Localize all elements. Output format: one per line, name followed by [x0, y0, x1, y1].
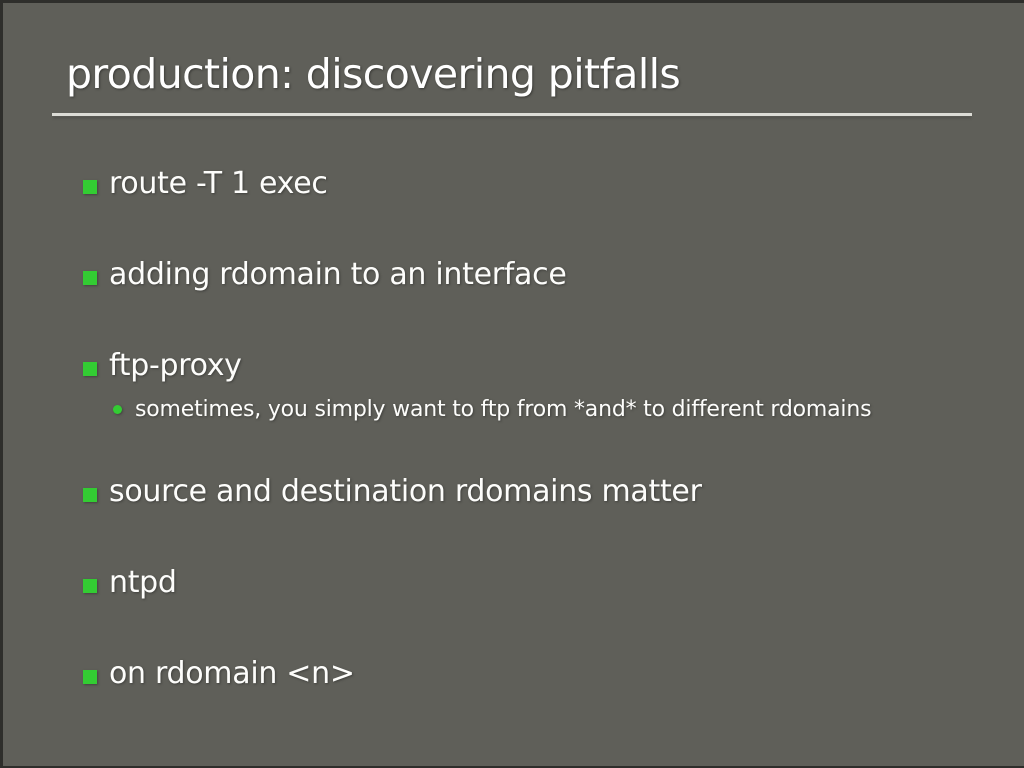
green-square-bullet-icon — [83, 579, 97, 593]
list-item: ntpd — [81, 560, 981, 605]
sub-list-item: sometimes, you simply want to ftp from *… — [109, 390, 875, 429]
green-square-bullet-icon — [83, 488, 97, 502]
green-square-bullet-icon — [83, 271, 97, 285]
green-square-bullet-icon — [83, 362, 97, 376]
sub-bullet-list: sometimes, you simply want to ftp from *… — [109, 390, 981, 429]
presentation-slide: production: discovering pitfalls route -… — [0, 0, 1024, 768]
slide-body-bullet-list: route -T 1 exec adding rdomain to an int… — [81, 161, 981, 696]
slide-title-block: production: discovering pitfalls — [52, 47, 972, 105]
sub-bullet-label: sometimes, you simply want to ftp from *… — [135, 390, 875, 429]
bullet-label: ftp-proxy — [109, 343, 981, 388]
list-item: route -T 1 exec — [81, 161, 981, 206]
bullet-label: on rdomain <n> — [109, 651, 981, 696]
green-square-bullet-icon — [83, 670, 97, 684]
green-square-bullet-icon — [83, 180, 97, 194]
list-item: on rdomain <n> — [81, 651, 981, 696]
list-item: adding rdomain to an interface — [81, 252, 981, 297]
bullet-label: route -T 1 exec — [109, 161, 981, 206]
list-item: ftp-proxy sometimes, you simply want to … — [81, 343, 981, 429]
title-underline-rule — [52, 113, 972, 116]
page-title: production: discovering pitfalls — [52, 47, 972, 105]
bullet-label: ntpd — [109, 560, 981, 605]
bullet-label: source and destination rdomains matter — [109, 469, 981, 514]
list-item: source and destination rdomains matter — [81, 469, 981, 514]
green-circle-bullet-icon — [113, 405, 122, 414]
bullet-label: adding rdomain to an interface — [109, 252, 981, 297]
